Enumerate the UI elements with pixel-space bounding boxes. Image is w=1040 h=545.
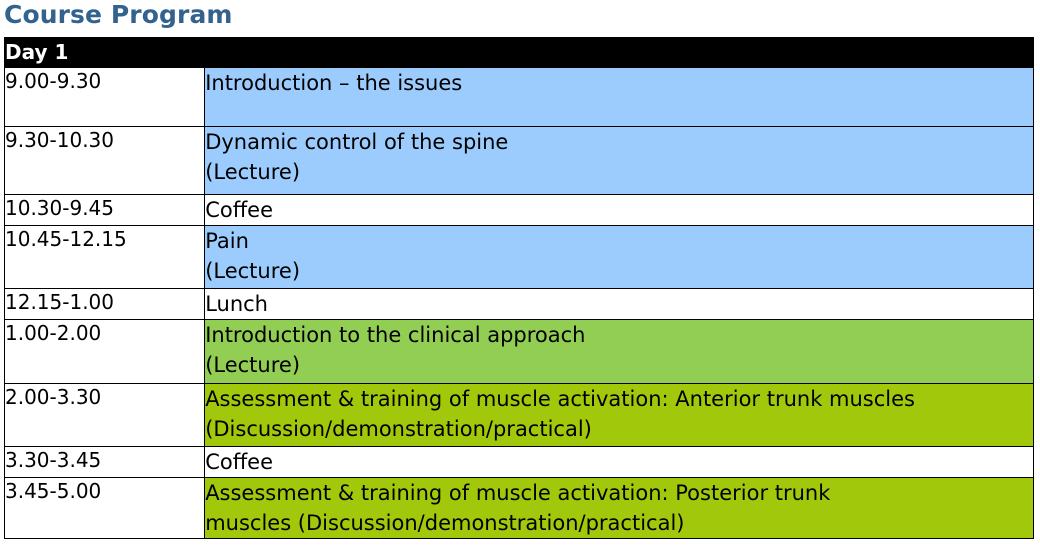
row-topic: Assessment & training of muscle activati… xyxy=(205,384,1034,447)
row-topic-line2: (Lecture) xyxy=(205,256,1033,286)
row-time: 12.15-1.00 xyxy=(5,289,205,320)
row-topic-line1: Coffee xyxy=(205,198,273,222)
table-row: 12.15-1.00 Lunch xyxy=(5,289,1034,320)
page-title: Course Program xyxy=(4,0,233,32)
table-header-row: Day 1 xyxy=(5,38,1034,68)
table-row: 3.30-3.45 Coffee xyxy=(5,447,1034,478)
row-topic: Coffee xyxy=(205,195,1034,226)
row-topic-line1: Introduction – the issues xyxy=(205,71,462,95)
day-header-spacer xyxy=(205,38,1034,68)
row-topic: Coffee xyxy=(205,447,1034,478)
row-time: 1.00-2.00 xyxy=(5,320,205,384)
row-topic-line1: Introduction to the clinical approach xyxy=(205,323,585,347)
day-header-label: Day 1 xyxy=(5,38,205,68)
table-row: 10.45-12.15 Pain (Lecture) xyxy=(5,226,1034,289)
row-topic: Lunch xyxy=(205,289,1034,320)
row-topic: Pain (Lecture) xyxy=(205,226,1034,289)
row-topic: Introduction – the issues xyxy=(205,68,1034,127)
table-row: 9.30-10.30 Dynamic control of the spine … xyxy=(5,127,1034,195)
row-topic-line1: Assessment & training of muscle activati… xyxy=(205,481,830,505)
row-topic: Assessment & training of muscle activati… xyxy=(205,478,1034,539)
row-time: 9.30-10.30 xyxy=(5,127,205,195)
table-row: 2.00-3.30 Assessment & training of muscl… xyxy=(5,384,1034,447)
row-time: 10.45-12.15 xyxy=(5,226,205,289)
row-time: 3.45-5.00 xyxy=(5,478,205,539)
row-topic-line1: Lunch xyxy=(205,292,268,316)
row-topic-line2: (Discussion/demonstration/practical) xyxy=(205,414,1033,444)
row-time: 2.00-3.30 xyxy=(5,384,205,447)
course-program-table: Day 1 9.00-9.30 Introduction – the issue… xyxy=(4,37,1034,539)
row-topic: Introduction to the clinical approach (L… xyxy=(205,320,1034,384)
row-topic-line1: Assessment & training of muscle activati… xyxy=(205,387,915,411)
row-topic-line1: Coffee xyxy=(205,450,273,474)
row-topic: Dynamic control of the spine (Lecture) xyxy=(205,127,1034,195)
row-topic-line2: muscles (Discussion/demonstration/practi… xyxy=(205,508,1033,538)
row-time: 9.00-9.30 xyxy=(5,68,205,127)
table-row: 10.30-9.45 Coffee xyxy=(5,195,1034,226)
row-topic-line1: Pain xyxy=(205,229,249,253)
row-topic-line1: Dynamic control of the spine xyxy=(205,130,508,154)
row-topic-line2: (Lecture) xyxy=(205,157,1033,187)
table-row: 1.00-2.00 Introduction to the clinical a… xyxy=(5,320,1034,384)
table-row: 3.45-5.00 Assessment & training of muscl… xyxy=(5,478,1034,539)
row-time: 10.30-9.45 xyxy=(5,195,205,226)
table-row: 9.00-9.30 Introduction – the issues xyxy=(5,68,1034,127)
row-time: 3.30-3.45 xyxy=(5,447,205,478)
row-topic-line2: (Lecture) xyxy=(205,350,1033,380)
